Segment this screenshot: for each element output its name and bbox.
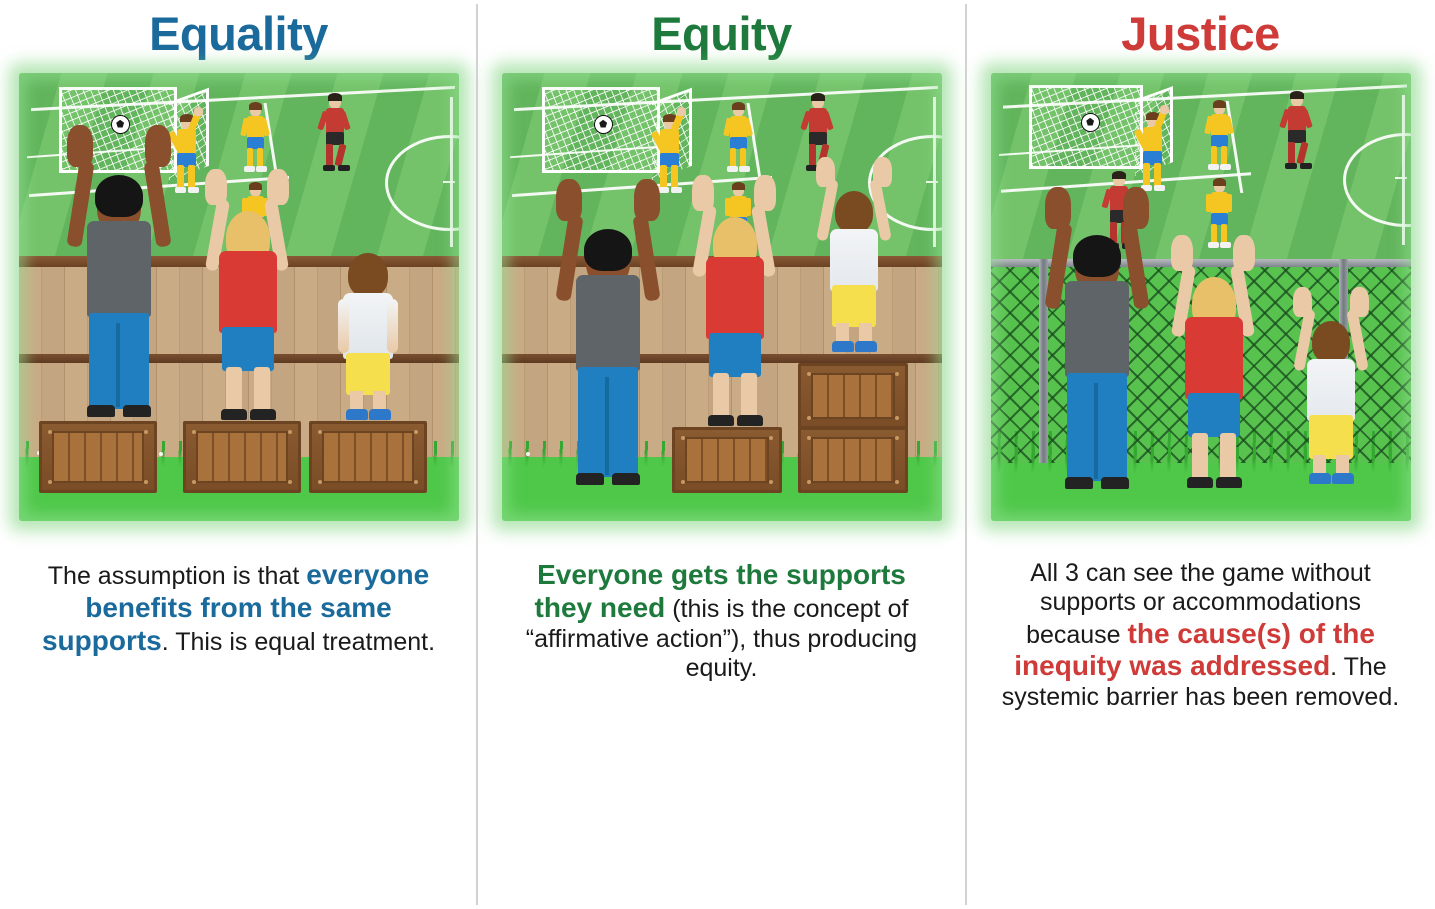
- soccer-ball: [594, 115, 613, 134]
- corner-mark: [1395, 177, 1407, 179]
- panel-justice: Justice: [966, 0, 1435, 909]
- caption-equity: Everyone gets the supports they need (th…: [522, 559, 922, 683]
- corner-mark: [926, 181, 938, 183]
- illustration-wrap-equality: [19, 73, 459, 521]
- crate-child: [309, 421, 427, 493]
- grass-flower: [526, 452, 530, 456]
- caption-lead: The assumption is that: [48, 562, 306, 590]
- illustration-equity: [502, 73, 942, 521]
- crate-medium-adult: [672, 427, 782, 493]
- panel-equity: Equity: [477, 0, 966, 909]
- player-yellow-midfielder: [1205, 97, 1237, 173]
- spectator-tall-adult: [1043, 179, 1151, 497]
- panel-divider-2: [965, 4, 967, 905]
- spectator-medium-adult: [201, 165, 293, 427]
- panel-equality: Equality: [0, 0, 477, 909]
- spectator-tall-adult: [554, 171, 662, 493]
- spectator-child: [1291, 287, 1371, 497]
- crate-medium-adult: [183, 421, 301, 493]
- panel-divider-1: [476, 4, 478, 905]
- player-yellow-midfielder: [241, 99, 273, 175]
- caption-justice: All 3 can see the game without supports …: [996, 559, 1406, 712]
- crate-tall-adult: [39, 421, 157, 493]
- player-yellow-midfielder: [724, 99, 756, 175]
- illustration-equality: [19, 73, 459, 521]
- corner-mark: [443, 181, 455, 183]
- grass-flower: [159, 452, 163, 456]
- infographic-board: Equality: [0, 0, 1435, 909]
- soccer-ball: [1081, 113, 1100, 132]
- illustration-wrap-equity: [502, 73, 942, 521]
- crate-child-lower: [798, 427, 908, 493]
- panel-title-justice: Justice: [1121, 10, 1279, 57]
- crate-child-upper: [798, 363, 908, 429]
- spectator-medium-adult: [688, 171, 780, 433]
- spectator-child: [814, 157, 894, 369]
- caption-equality: The assumption is that everyone benefits…: [39, 559, 439, 657]
- panel-title-equity: Equity: [651, 10, 792, 57]
- spectator-child: [331, 249, 405, 427]
- illustration-justice: [991, 73, 1411, 521]
- caption-tail: . This is equal treatment.: [162, 628, 435, 656]
- spectator-medium-adult: [1167, 231, 1259, 497]
- player-red-attacker: [1281, 89, 1315, 175]
- illustration-wrap-justice: [991, 73, 1411, 521]
- spectator-tall-adult: [65, 117, 173, 427]
- player-red-attacker: [319, 91, 353, 177]
- panel-title-equality: Equality: [149, 10, 328, 57]
